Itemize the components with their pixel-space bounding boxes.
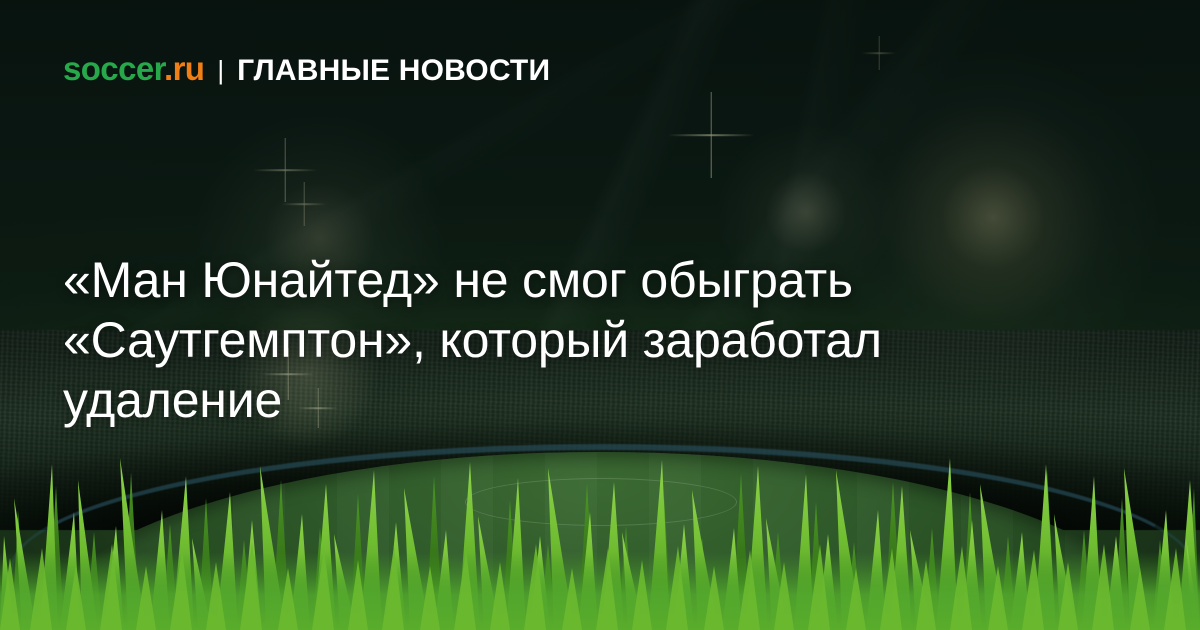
headline-line: удаление (63, 370, 1103, 430)
logo-name-text: soccer (63, 50, 164, 87)
site-logo[interactable]: soccer.ru (63, 52, 204, 85)
social-share-card: soccer.ru | ГЛАВНЫЕ НОВОСТИ «Ман Юнайтед… (0, 0, 1200, 630)
site-header: soccer.ru | ГЛАВНЫЕ НОВОСТИ (63, 52, 550, 86)
article-headline: «Ман Юнайтед» не смог обыграть «Саутгемп… (63, 250, 1103, 430)
header-separator: | (217, 57, 224, 83)
header-kicker: ГЛАВНЫЕ НОВОСТИ (237, 56, 550, 86)
logo-tld-text: .ru (164, 50, 204, 87)
headline-line: «Ман Юнайтед» не смог обыграть (63, 250, 1103, 310)
foreground-grass (0, 440, 1200, 630)
headline-line: «Саутгемптон», который заработал (63, 310, 1103, 370)
